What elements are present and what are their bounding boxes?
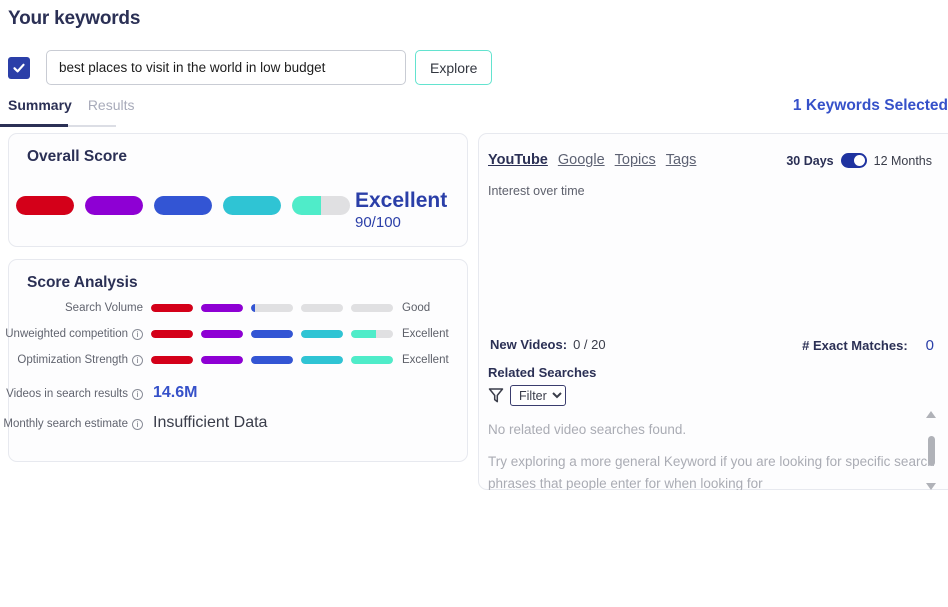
meter-fill xyxy=(201,356,243,364)
overall-meter-segment xyxy=(154,196,212,215)
analysis-row-label: Optimization Strengthi xyxy=(0,354,143,366)
analysis-row: Unweighted competitioniExcellent xyxy=(0,328,449,340)
analysis-meter-segment xyxy=(301,330,343,338)
info-icon[interactable]: i xyxy=(132,419,143,430)
analysis-row-label: Search Volume xyxy=(0,302,143,314)
info-icon[interactable]: i xyxy=(132,329,143,340)
analysis-row-label-text: Optimization Strength xyxy=(17,354,128,366)
meter-fill xyxy=(151,304,193,312)
analysis-meter-segment xyxy=(201,356,243,364)
tab-rest-divider xyxy=(68,125,116,127)
analysis-meter-segment xyxy=(351,330,393,338)
info-icon[interactable]: i xyxy=(132,389,143,400)
keyword-row: Explore xyxy=(8,50,492,85)
meter-fill xyxy=(85,196,143,215)
analysis-meter-segment xyxy=(251,356,293,364)
meter-fill xyxy=(201,330,243,338)
range-switch[interactable] xyxy=(841,153,867,168)
range-30-days-label: 30 Days xyxy=(786,154,833,168)
analysis-meter-segment xyxy=(151,330,193,338)
analysis-row-verdict: Good xyxy=(402,302,430,314)
analysis-value-label-text: Videos in search results xyxy=(6,388,128,400)
analysis-meter-segment xyxy=(201,330,243,338)
analysis-value-label-text: Monthly search estimate xyxy=(3,418,128,430)
overall-meter-segment xyxy=(292,196,350,215)
analysis-meter-segment xyxy=(251,330,293,338)
related-filter-row: Filter xyxy=(488,385,566,406)
meter-fill xyxy=(151,356,193,364)
analysis-meter-segment xyxy=(301,304,343,312)
analysis-row: Search VolumeGood xyxy=(0,302,430,314)
new-videos-label: New Videos: xyxy=(490,337,567,352)
analysis-value-text: 14.6M xyxy=(153,384,197,402)
related-scrollbar[interactable] xyxy=(924,411,938,490)
range-12-months-label: 12 Months xyxy=(874,154,932,168)
overall-score-title: Overall Score xyxy=(27,148,127,166)
meter-fill xyxy=(251,304,255,312)
overall-score-meter xyxy=(16,196,350,215)
meter-fill xyxy=(223,196,281,215)
source-tab-topics[interactable]: Topics xyxy=(615,152,656,168)
analysis-value-label: Videos in search resultsi xyxy=(0,388,143,400)
overall-score-readout: Excellent 90/100 xyxy=(355,189,447,233)
analysis-row-label-text: Search Volume xyxy=(65,302,143,314)
score-analysis-title: Score Analysis xyxy=(27,274,138,292)
analysis-value-label: Monthly search estimatei xyxy=(0,418,143,430)
analysis-meter-segment xyxy=(151,304,193,312)
analysis-row-verdict: Excellent xyxy=(402,354,449,366)
overall-meter-segment xyxy=(16,196,74,215)
main-tabs: Summary Results xyxy=(0,97,143,119)
analysis-meter-segment xyxy=(251,304,293,312)
new-videos-stat: New Videos:0 / 20 xyxy=(490,337,606,352)
overall-meter-segment xyxy=(85,196,143,215)
analysis-meter-segment xyxy=(201,304,243,312)
scroll-down-arrow-icon[interactable] xyxy=(926,483,936,490)
tab-summary[interactable]: Summary xyxy=(0,97,80,119)
meter-fill xyxy=(351,356,393,364)
time-range-toggle[interactable]: 30 Days 12 Months xyxy=(786,153,932,168)
switch-knob xyxy=(854,155,865,166)
app-root: Your keywords Explore 1 Keywords Selecte… xyxy=(0,0,948,607)
scroll-up-arrow-icon[interactable] xyxy=(926,411,936,418)
explore-button[interactable]: Explore xyxy=(415,50,492,85)
exact-matches-stat: # Exact Matches:0 xyxy=(802,337,934,354)
tab-active-indicator xyxy=(0,124,68,127)
source-tab-tags[interactable]: Tags xyxy=(666,152,697,168)
meter-fill xyxy=(151,330,193,338)
related-searches-title: Related Searches xyxy=(488,365,596,380)
analysis-row-verdict: Excellent xyxy=(402,328,449,340)
meter-fill xyxy=(351,330,376,338)
source-tabs: YouTube Google Topics Tags xyxy=(488,152,696,168)
related-empty-text: No related video searches found. xyxy=(488,419,948,441)
page-title: Your keywords xyxy=(8,8,140,30)
meter-fill xyxy=(201,304,243,312)
tab-results[interactable]: Results xyxy=(80,97,143,119)
info-icon[interactable]: i xyxy=(132,355,143,366)
keyword-input[interactable] xyxy=(46,50,406,85)
meter-fill xyxy=(251,356,293,364)
overall-score-value: 90/100 xyxy=(355,213,447,233)
scrollbar-thumb[interactable] xyxy=(928,436,935,466)
exact-matches-value: 0 xyxy=(926,337,934,354)
keyword-checkbox[interactable] xyxy=(8,57,30,79)
interest-over-time-label: Interest over time xyxy=(488,184,585,198)
analysis-row-label: Unweighted competitioni xyxy=(0,328,143,340)
meter-fill xyxy=(301,356,343,364)
analysis-row: Optimization StrengthiExcellent xyxy=(0,354,449,366)
overall-meter-segment xyxy=(223,196,281,215)
keywords-selected-count: 1 Keywords Selected xyxy=(793,97,948,115)
analysis-value-row: Monthly search estimateiInsufficient Dat… xyxy=(0,414,267,432)
overall-score-verdict: Excellent xyxy=(355,189,447,213)
meter-fill xyxy=(292,196,321,215)
checkmark-icon xyxy=(12,61,26,75)
source-tab-google[interactable]: Google xyxy=(558,152,605,168)
analysis-meter-segment xyxy=(351,356,393,364)
analysis-row-label-text: Unweighted competition xyxy=(5,328,128,340)
meter-fill xyxy=(154,196,212,215)
exact-matches-label: # Exact Matches: xyxy=(802,338,908,353)
meter-fill xyxy=(16,196,74,215)
analysis-value-row: Videos in search resultsi14.6M xyxy=(0,384,197,402)
related-searches-message: No related video searches found. Try exp… xyxy=(479,413,948,490)
funnel-icon[interactable] xyxy=(488,387,504,404)
meter-fill xyxy=(251,330,293,338)
related-filter-select[interactable]: Filter xyxy=(510,385,566,406)
related-hint-text: Try exploring a more general Keyword if … xyxy=(488,451,948,490)
meter-fill xyxy=(301,330,343,338)
analysis-row-meter xyxy=(151,304,393,312)
source-tab-youtube[interactable]: YouTube xyxy=(488,152,548,168)
related-searches-list[interactable]: No related video searches found. Try exp… xyxy=(479,413,948,490)
analysis-meter-segment xyxy=(151,356,193,364)
analysis-row-meter xyxy=(151,330,393,338)
analysis-meter-segment xyxy=(351,304,393,312)
analysis-value-text: Insufficient Data xyxy=(153,414,267,432)
new-videos-value: 0 / 20 xyxy=(573,337,606,352)
analysis-meter-segment xyxy=(301,356,343,364)
analysis-row-meter xyxy=(151,356,393,364)
